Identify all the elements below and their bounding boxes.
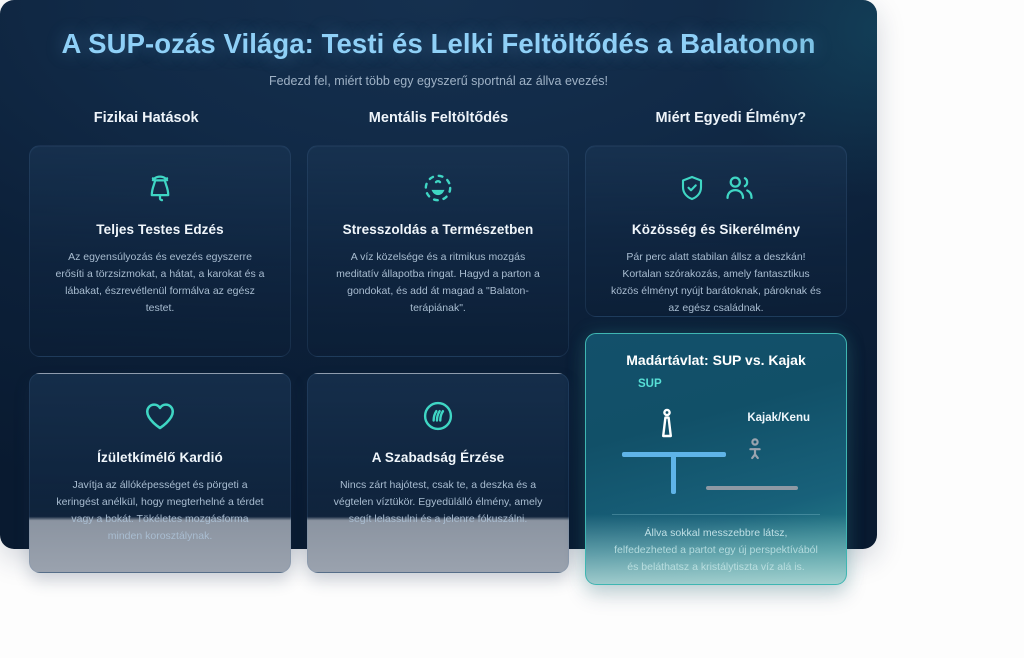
heart-icon: [142, 398, 178, 439]
waves-circle-icon: [420, 398, 456, 439]
comparison-caption: Állva sokkal messzebbre látsz, felfedezh…: [604, 525, 828, 575]
infographic-stage: A SUP-ozás Világa: Testi és Lelki Feltöl…: [0, 0, 1024, 658]
column-heading-physical: Fizikai Hatások: [0, 110, 292, 126]
shield-check-icon: [677, 173, 707, 208]
card-kozosseg-es-sikerelmeny[interactable]: Közösség és Sikerélmény Pár perc alatt s…: [585, 145, 847, 317]
comparison-title: Madártávlat: SUP vs. Kajak: [604, 352, 828, 368]
card-body: Pár perc alatt stabilan állsz a deszkán!…: [606, 249, 826, 317]
icon-row: [50, 398, 270, 438]
card-body: Nincs zárt hajótest, csak te, a deszka é…: [328, 477, 548, 528]
column-headings: Fizikai Hatások Mentális Feltöltődés Mié…: [0, 110, 877, 126]
card-body: Javítja az állóképességet és pörgeti a k…: [50, 477, 270, 545]
column-mental: Stresszoldás a Természetben A víz közels…: [307, 145, 569, 585]
icon-row: [606, 170, 826, 210]
page-title: A SUP-ozás Világa: Testi és Lelki Feltöl…: [0, 28, 877, 60]
users-icon: [723, 172, 755, 209]
card-title: Ízületkímélő Kardió: [50, 450, 270, 465]
standing-paddler-icon: [650, 404, 684, 453]
icon-row: [328, 398, 548, 438]
sup-paddle-shape: [671, 452, 676, 494]
comparison-label-kayak: Kajak/Kenu: [747, 412, 810, 424]
comparison-diagram: SUP Kajak/Kenu: [604, 374, 828, 514]
card-title: A Szabadság Érzése: [328, 450, 548, 465]
column-heading-unique: Miért Egyedi Élmény?: [585, 110, 877, 126]
card-body: Az egyensúlyozás és evezés egyszerre erő…: [50, 249, 270, 317]
page-subtitle: Fedezd fel, miért több egy egyszerű spor…: [0, 74, 877, 88]
card-teljes-testes-edzes[interactable]: Teljes Testes Edzés Az egyensúlyozás és …: [29, 145, 291, 357]
card-stresszoldas-a-termeszetben[interactable]: Stresszoldás a Természetben A víz közels…: [307, 145, 569, 357]
card-body: A víz közelsége és a ritmikus mozgás med…: [328, 249, 548, 317]
card-title: Közösség és Sikerélmény: [606, 222, 826, 237]
comparison-label-sup: SUP: [638, 378, 662, 390]
kayak-hull-shape: [706, 486, 798, 490]
comparison-divider: [612, 514, 820, 515]
card-grid: Teljes Testes Edzés Az egyensúlyozás és …: [29, 145, 849, 585]
header: A SUP-ozás Világa: Testi és Lelki Feltöl…: [0, 0, 877, 88]
meditation-smile-icon: [421, 171, 455, 210]
card-izuletkimelo-kardio[interactable]: Ízületkímélő Kardió Javítja az állóképes…: [29, 373, 291, 573]
icon-row: [50, 170, 270, 210]
comparison-card[interactable]: Madártávlat: SUP vs. Kajak SUP Kajak/Ken…: [585, 333, 847, 585]
card-a-szabadsag-erzese[interactable]: A Szabadság Érzése Nincs zárt hajótest, …: [307, 373, 569, 573]
icon-row: [328, 170, 548, 210]
seated-paddler-icon: [744, 436, 766, 471]
column-heading-mental: Mentális Feltöltődés: [292, 110, 584, 126]
card-title: Stresszoldás a Természetben: [328, 222, 548, 237]
bell-icon: [143, 171, 177, 210]
column-unique: Közösség és Sikerélmény Pár perc alatt s…: [585, 145, 847, 585]
column-physical: Teljes Testes Edzés Az egyensúlyozás és …: [29, 145, 291, 585]
card-title: Teljes Testes Edzés: [50, 222, 270, 237]
